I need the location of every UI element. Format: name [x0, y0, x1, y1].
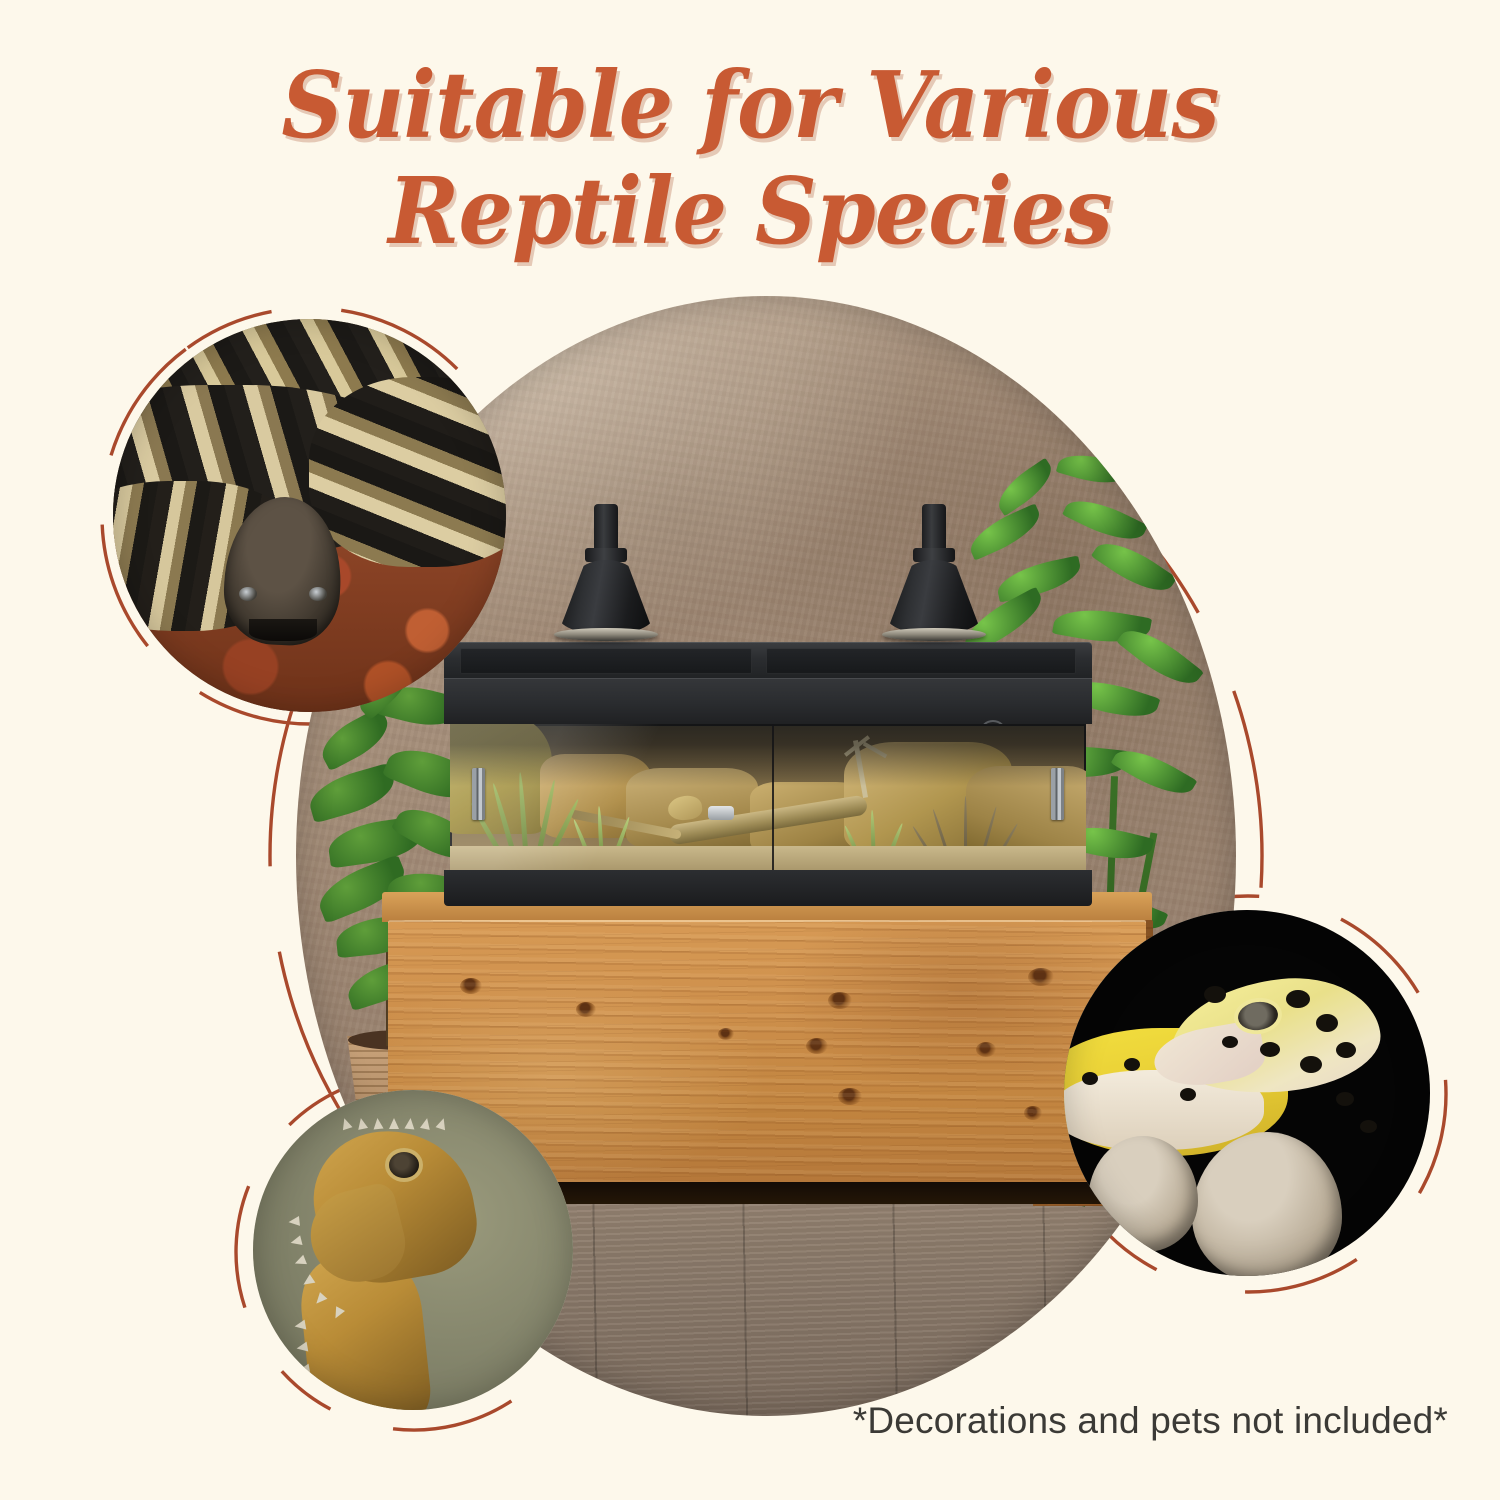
lamp-dome: [558, 560, 654, 634]
snake-eye: [309, 587, 327, 601]
lamp-collar: [913, 548, 955, 562]
glass-door-seam[interactable]: [772, 724, 774, 872]
snake-eye: [239, 587, 257, 601]
terrarium-hood-top: [444, 642, 1092, 680]
snake-coil: [309, 377, 506, 567]
lamp-neck: [922, 504, 946, 552]
lamp-collar: [585, 548, 627, 562]
reptile-terrarium: RepWild: [444, 642, 1092, 908]
glass-door-handle-right[interactable]: [1051, 768, 1064, 820]
headline-line-2: Reptile Species: [53, 158, 1448, 264]
species-photo-ball-python: [113, 319, 506, 712]
species-photo-bearded-dragon: [253, 1090, 573, 1410]
lamp-rim: [882, 628, 986, 641]
terrarium-glass-front: [450, 724, 1086, 872]
terrarium-hood-face: RepWild: [444, 678, 1092, 724]
page-title: Suitable for Various Reptile Species: [0, 52, 1500, 264]
snake-mouth: [249, 619, 317, 641]
lamp-rim: [554, 628, 658, 641]
disclaimer-text: *Decorations and pets not included*: [853, 1400, 1448, 1442]
lamp-dome: [886, 560, 982, 634]
lamp-neck: [594, 504, 618, 552]
substrate-sand: [450, 846, 1086, 872]
species-photo-leopard-gecko: [1064, 910, 1430, 1276]
headline-line-1: Suitable for Various: [53, 52, 1448, 158]
water-dish: [708, 806, 734, 820]
terrarium-base: [444, 870, 1092, 906]
glass-door-handle-left[interactable]: [472, 768, 485, 820]
mesh-panel-right: [766, 648, 1076, 674]
dome-heat-lamp-right: [886, 504, 982, 644]
dragon-eye: [389, 1152, 419, 1178]
product-infographic: Suitable for Various Reptile Species: [0, 0, 1500, 1500]
dome-heat-lamp-left: [558, 504, 654, 644]
